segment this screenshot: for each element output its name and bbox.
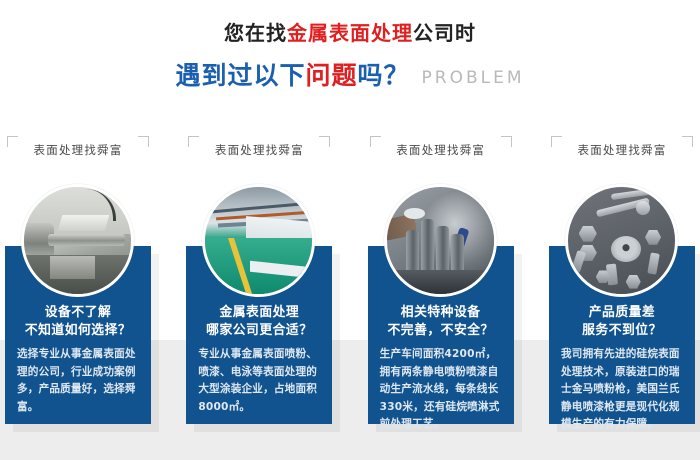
bolts-nuts-fasteners-photo <box>565 184 678 297</box>
card-tag-label-2: 表面处理找舜富 <box>215 136 304 164</box>
heading-line1-emphasis: 金属表面处理 <box>287 21 413 45</box>
card-title-1-line1: 设备不了解 <box>5 304 151 322</box>
card-title-3-line1: 相关特种设备 <box>368 304 514 322</box>
card-body-4: 我司拥有先进的硅烷表面处理技术，原装进口的瑞士金马喷粉枪，美国兰氏静电喷漆枪更是… <box>561 346 685 434</box>
card-title-2-line1: 金属表面处理 <box>186 304 332 322</box>
lathe-machining-photo <box>21 184 134 297</box>
card-title-2: 金属表面处理 哪家公司更合适？ <box>186 304 332 340</box>
card-title-4-line1: 产品质量差 <box>549 304 695 322</box>
heading-line2-suffix: 吗？ <box>358 61 410 90</box>
card-body-2: 专业从事金属表面喷粉、喷漆、电泳等表面处理的大型涂装企业，占地面积8000㎡。 <box>198 346 322 416</box>
corner-bracket-top-right-icon <box>501 136 512 147</box>
card-title-2-line2: 哪家公司更合适？ <box>186 322 332 340</box>
corner-bracket-top-left-icon <box>7 136 18 147</box>
heading-line2-emphasis: 问题 <box>305 61 357 90</box>
section-heading: 您在找金属表面处理公司时 遇到过以下问题吗？PROBLEM <box>0 18 700 95</box>
heading-line2-prefix: 遇到过以下 <box>175 61 305 90</box>
corner-bracket-top-left-icon <box>551 136 562 147</box>
card-tag-label-3: 表面处理找舜富 <box>396 136 485 164</box>
problem-card-4[interactable]: 表面处理找舜富 产品质量差 服务不到位？ 我司拥有先进的硅烷表面处理技术，原装进… <box>549 136 695 436</box>
problem-section: 您在找金属表面处理公司时 遇到过以下问题吗？PROBLEM 表面处理找舜富 设备… <box>0 0 700 460</box>
heading-line1-prefix: 您在找 <box>224 21 287 45</box>
card-tag-label-4: 表面处理找舜富 <box>578 136 667 164</box>
card-title-4-line2: 服务不到位？ <box>549 322 695 340</box>
corner-bracket-top-left-icon <box>370 136 381 147</box>
card-body-1: 选择专业从事金属表面处理的公司，行业成功案例多，产品质量好，选择舜富。 <box>17 346 141 416</box>
card-title-3-line2: 不完善，不安全？ <box>368 322 514 340</box>
corner-bracket-top-right-icon <box>682 136 693 147</box>
workshop-production-line-photo <box>202 184 315 297</box>
card-title-1-line2: 不知道如何选择？ <box>5 322 151 340</box>
corner-bracket-top-left-icon <box>188 136 199 147</box>
card-body-3: 生产车间面积4200㎡，拥有两条静电喷粉喷漆自动生产流水线，每条线长330米，还… <box>380 346 504 434</box>
corner-bracket-top-right-icon <box>138 136 149 147</box>
metal-rods-equipment-photo <box>384 184 497 297</box>
card-tag-3: 表面处理找舜富 <box>368 136 514 164</box>
card-title-4: 产品质量差 服务不到位？ <box>549 304 695 340</box>
heading-english-label: PROBLEM <box>422 68 525 88</box>
card-tag-1: 表面处理找舜富 <box>5 136 151 164</box>
problem-card-2[interactable]: 表面处理找舜富 金属表面处理 哪家公司更合适？ 专业从事金属表面喷粉、喷漆、电泳… <box>186 136 332 436</box>
card-tag-label-1: 表面处理找舜富 <box>34 136 123 164</box>
problem-card-3[interactable]: 表面处理找舜富 相关特种设备 不完善，不安全？ 生产车间面积4200㎡，拥有两条… <box>368 136 514 436</box>
card-tag-4: 表面处理找舜富 <box>549 136 695 164</box>
card-title-3: 相关特种设备 不完善，不安全？ <box>368 304 514 340</box>
corner-bracket-top-right-icon <box>319 136 330 147</box>
problem-card-1[interactable]: 表面处理找舜富 设备不了解 不知道如何选择？ 选择专业从事金属表面处理的公司，行… <box>5 136 151 436</box>
heading-line-1: 您在找金属表面处理公司时 <box>0 18 700 48</box>
heading-line-2: 遇到过以下问题吗？PROBLEM <box>0 59 700 95</box>
card-tag-2: 表面处理找舜富 <box>186 136 332 164</box>
heading-line1-suffix: 公司时 <box>413 21 476 45</box>
card-title-1: 设备不了解 不知道如何选择？ <box>5 304 151 340</box>
problem-card-list: 表面处理找舜富 设备不了解 不知道如何选择？ 选择专业从事金属表面处理的公司，行… <box>5 136 695 436</box>
